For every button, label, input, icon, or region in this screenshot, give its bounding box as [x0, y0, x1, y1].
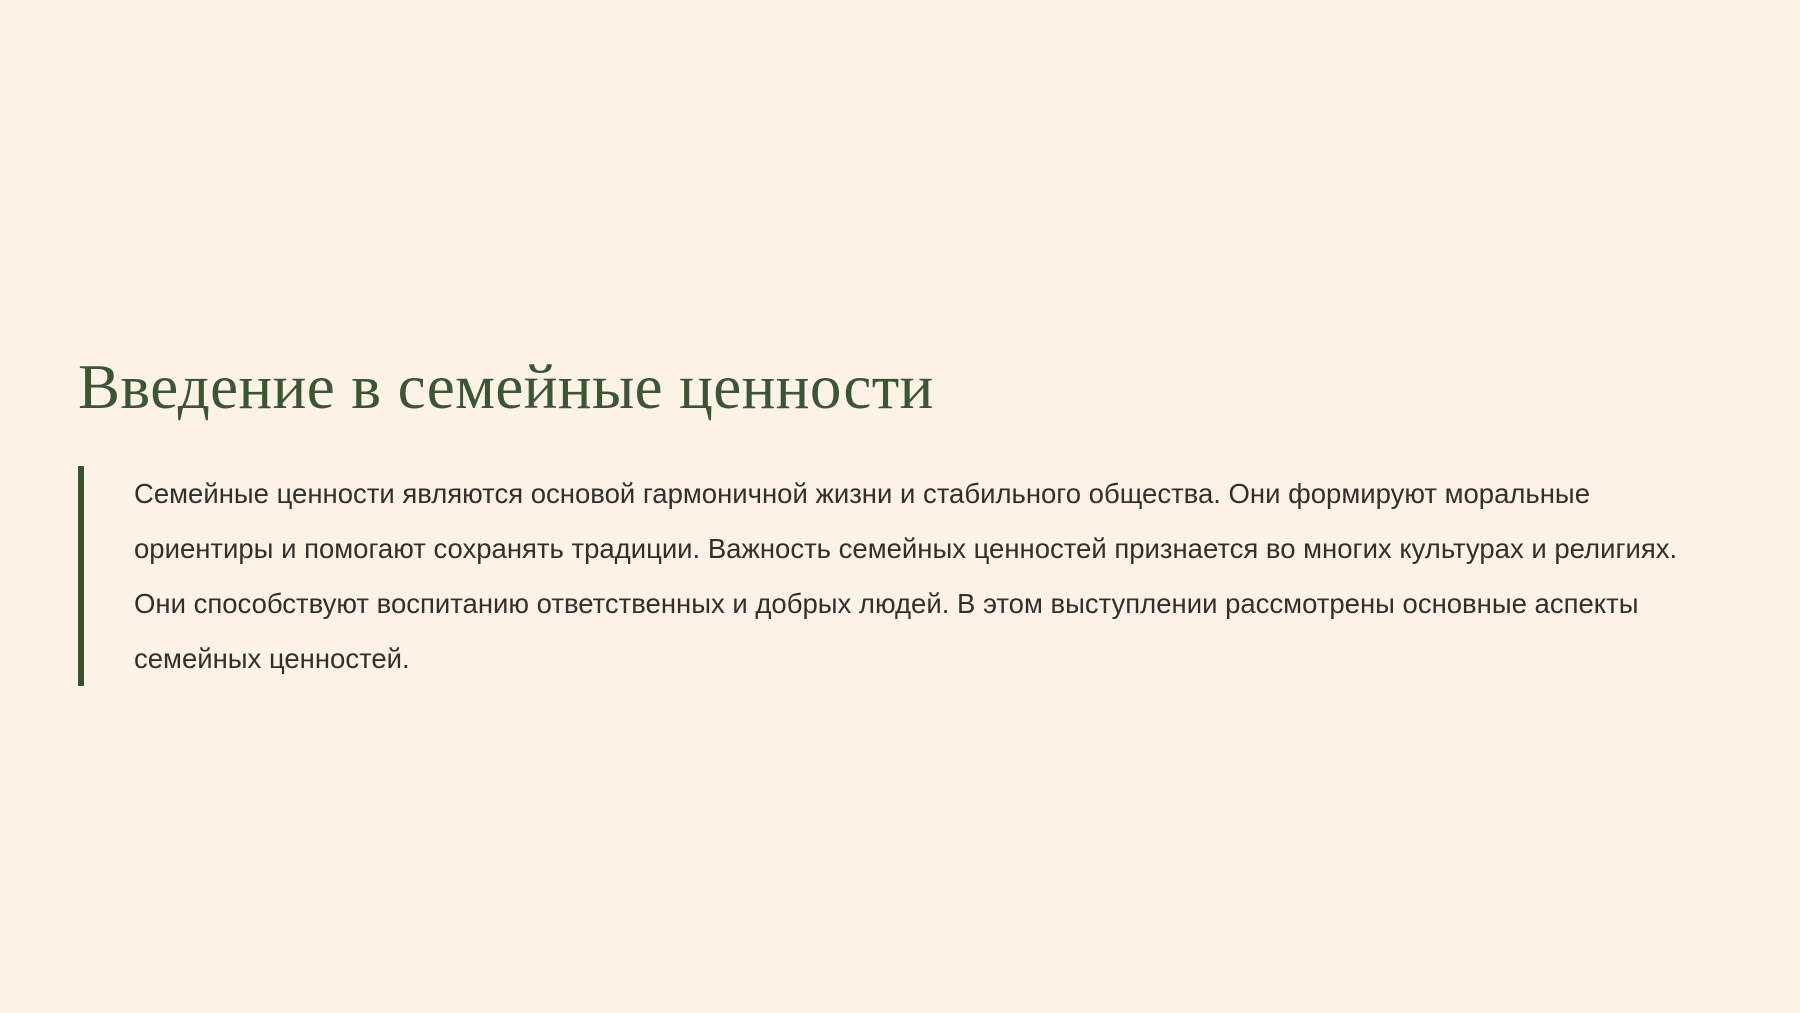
slide-content: Введение в семейные ценности Семейные це…: [78, 352, 1738, 686]
quote-block: Семейные ценности являются основой гармо…: [78, 466, 1738, 686]
page-title: Введение в семейные ценности: [78, 352, 1738, 423]
slide-canvas: Введение в семейные ценности Семейные це…: [0, 0, 1800, 1013]
body-paragraph: Семейные ценности являются основой гармо…: [134, 466, 1734, 686]
accent-bar: [78, 466, 84, 686]
